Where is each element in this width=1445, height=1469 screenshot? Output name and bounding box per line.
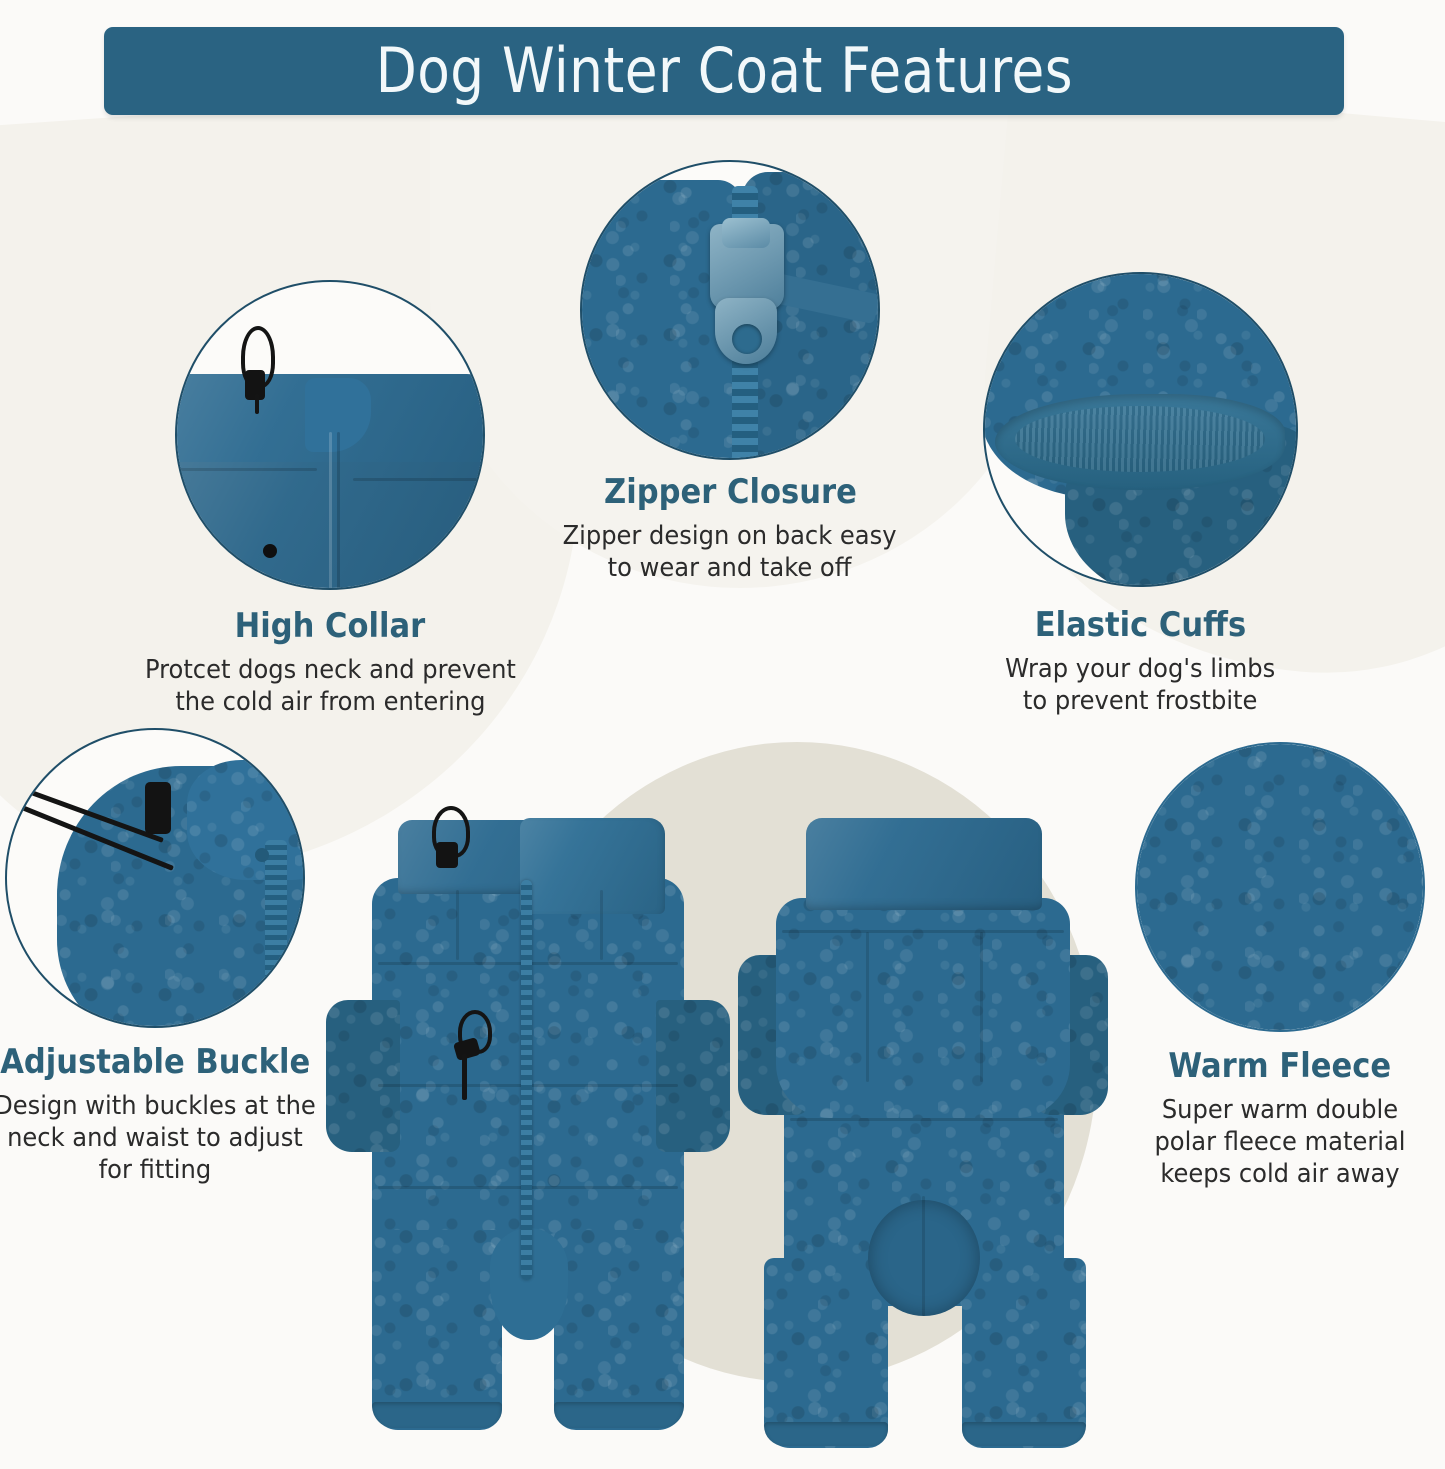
feature-zipper-closure: Zipper Closure Zipper design on back eas… xyxy=(510,160,950,585)
high-collar-closeup-art xyxy=(177,282,483,588)
high-collar-image-bubble xyxy=(175,280,485,590)
back-leg-right xyxy=(962,1258,1086,1448)
feature-adjustable-buckle: Adjustable Buckle Design with buckles at… xyxy=(0,728,340,1187)
feature-heading: Adjustable Buckle xyxy=(0,1044,310,1081)
feature-warm-fleece: Warm Fleece Super warm double polar flee… xyxy=(1110,742,1445,1191)
infographic-page: Dog Winter Coat Features High Collar Pro… xyxy=(0,0,1445,1469)
feature-description: Wrap your dog's limbs to prevent frostbi… xyxy=(1005,654,1275,717)
front-zipper xyxy=(521,880,532,1280)
feature-heading: Zipper Closure xyxy=(604,474,857,511)
feature-heading: High Collar xyxy=(235,608,426,645)
adjustable-buckle-closeup-art xyxy=(7,730,303,1026)
header-banner: Dog Winter Coat Features xyxy=(104,27,1344,115)
zipper-image-bubble xyxy=(580,160,880,460)
feature-heading: Warm Fleece xyxy=(1169,1048,1392,1085)
feature-elastic-cuffs: Elastic Cuffs Wrap your dog's limbs to p… xyxy=(930,272,1350,718)
feature-description: Zipper design on back easy to wear and t… xyxy=(563,521,897,584)
back-leg-left xyxy=(764,1258,888,1448)
feature-heading: Elastic Cuffs xyxy=(1034,607,1245,644)
front-leg-right xyxy=(554,1230,684,1430)
back-collar xyxy=(806,818,1042,910)
zipper-closeup-art xyxy=(582,162,878,458)
adjustable-buckle-image-bubble xyxy=(5,728,305,1028)
front-sleeve-right xyxy=(656,1000,730,1152)
elastic-cuff-closeup-art xyxy=(985,274,1296,585)
page-title: Dog Winter Coat Features xyxy=(375,40,1072,102)
elastic-cuffs-image-bubble xyxy=(983,272,1298,587)
feature-description: Protcet dogs neck and prevent the cold a… xyxy=(145,655,516,718)
feature-high-collar: High Collar Protcet dogs neck and preven… xyxy=(110,280,550,719)
warm-fleece-image-bubble xyxy=(1135,742,1425,1032)
fleece-texture-art xyxy=(1137,744,1423,1030)
feature-description: Super warm double polar fleece material … xyxy=(1154,1095,1405,1190)
feature-description: Design with buckles at the neck and wais… xyxy=(0,1091,316,1186)
front-chest-cord xyxy=(462,1054,467,1100)
front-neck-cord-toggle xyxy=(436,842,458,868)
front-collar-flap xyxy=(520,818,665,914)
front-leg-left xyxy=(372,1230,502,1430)
